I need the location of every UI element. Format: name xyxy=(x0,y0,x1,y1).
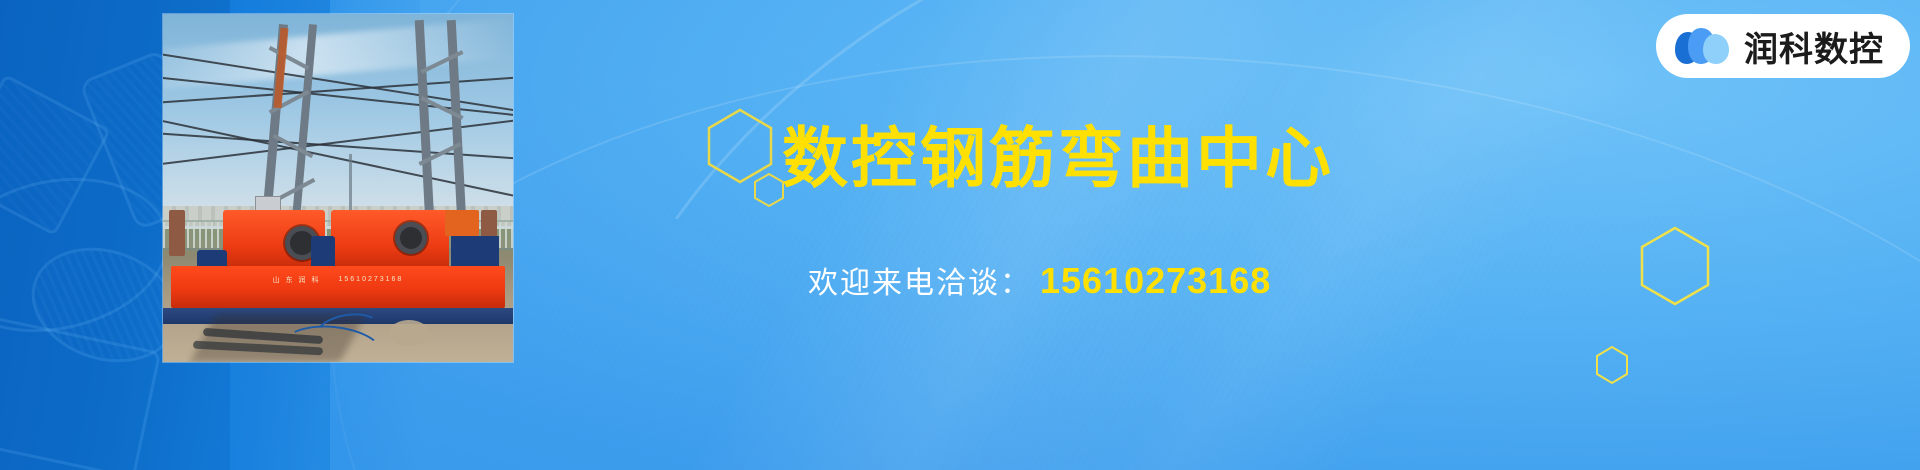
photo-brick-pillar xyxy=(169,210,185,256)
photo-bending-disc xyxy=(395,222,427,254)
machine-phone-text: 15610273168 xyxy=(339,276,404,283)
photo-orange-cabinet xyxy=(445,210,479,236)
machine-brand-text: 山 东 润 科 xyxy=(273,275,321,285)
cloud-petal-icon xyxy=(1674,24,1730,68)
contact-phone-number[interactable]: 15610273168 xyxy=(1040,260,1271,302)
logo-text: 润科数控 xyxy=(1744,22,1884,71)
promo-banner: 山 东 润 科 15610273168 数控钢筋弯曲中心 欢迎来电洽谈： 156… xyxy=(0,0,1920,470)
contact-label: 欢迎来电洽谈： xyxy=(808,258,1032,302)
hexagon-large-right-icon xyxy=(1638,225,1712,307)
photo-machine-branding: 山 东 润 科 15610273168 xyxy=(163,272,513,287)
page-title: 数控钢筋弯曲中心 xyxy=(782,126,1334,192)
hexagon-small-right-icon xyxy=(1594,345,1630,385)
hexagon-small-left-icon xyxy=(753,172,785,208)
photo-coiled-rope xyxy=(389,320,429,346)
product-photo: 山 东 润 科 15610273168 xyxy=(163,14,513,362)
photo-machine-head-right xyxy=(331,210,449,272)
brand-logo[interactable]: 润科数控 xyxy=(1656,14,1910,78)
contact-line: 欢迎来电洽谈： 15610273168 xyxy=(808,258,1271,302)
